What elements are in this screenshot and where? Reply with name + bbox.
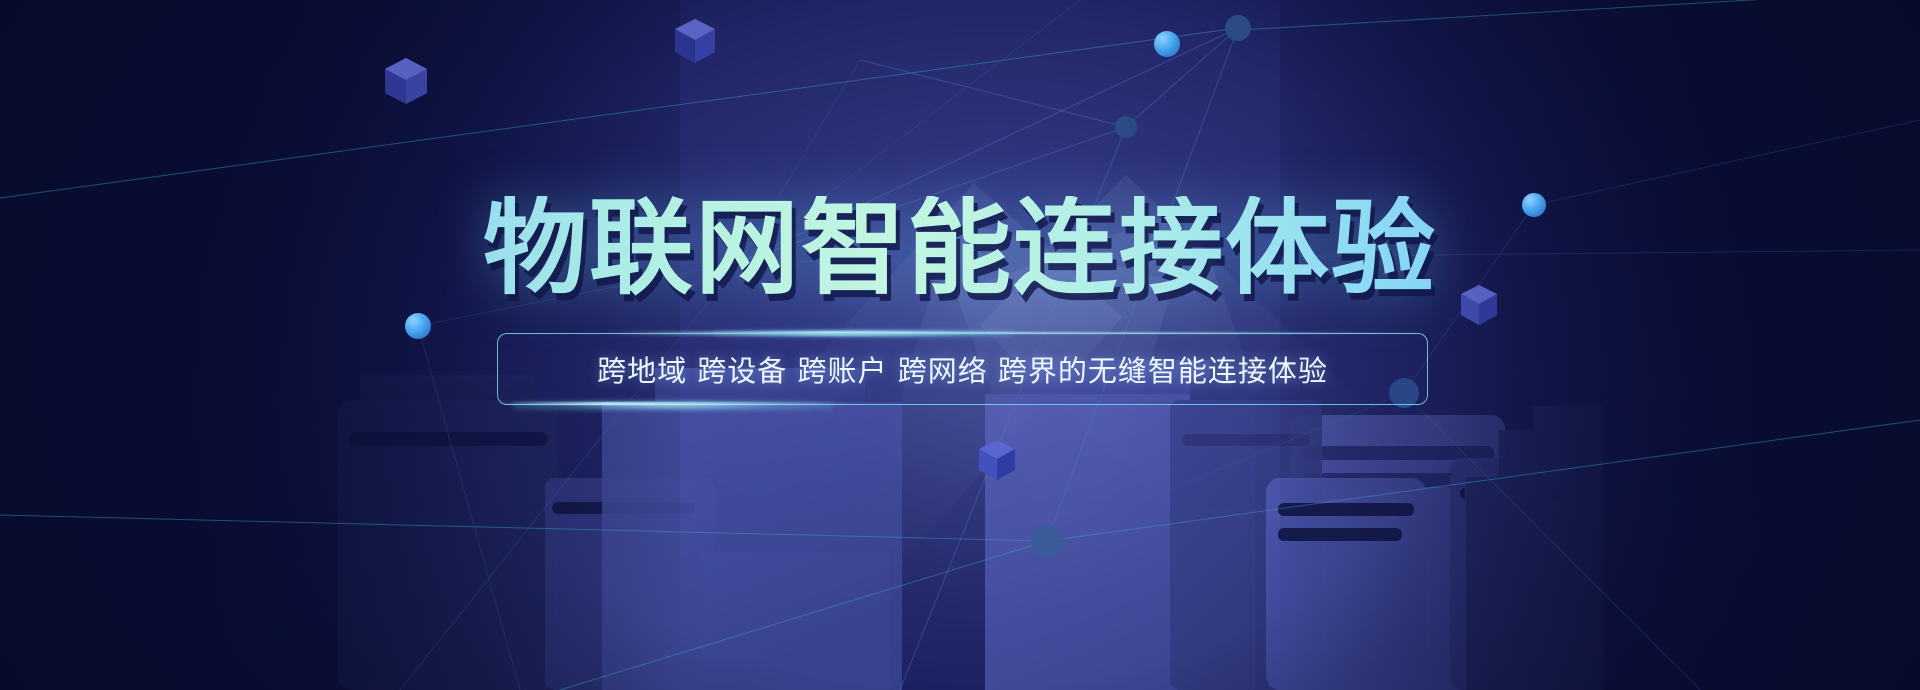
box-bottom-glow-line	[497, 402, 857, 405]
subtitle-text: 跨地域 跨设备 跨账户 跨网络 跨界的无缝智能连接体验	[597, 348, 1328, 390]
node-flat-upper	[1225, 15, 1251, 41]
page-title: 物联网智能连接体验	[0, 196, 1920, 300]
node-flat-center	[1031, 525, 1063, 557]
cube-top-left	[383, 58, 429, 106]
cube-top-mid	[673, 19, 717, 65]
node-glow-left	[405, 313, 431, 339]
cube-center	[977, 440, 1017, 482]
hero-banner: 物联网智能连接体验 跨地域 跨设备 跨账户 跨网络 跨界的无缝智能连接体验	[0, 0, 1920, 690]
node-glow-upper	[1154, 31, 1180, 57]
node-flat-left	[1115, 116, 1137, 138]
subtitle-box: 跨地域 跨设备 跨账户 跨网络 跨界的无缝智能连接体验	[497, 333, 1428, 405]
